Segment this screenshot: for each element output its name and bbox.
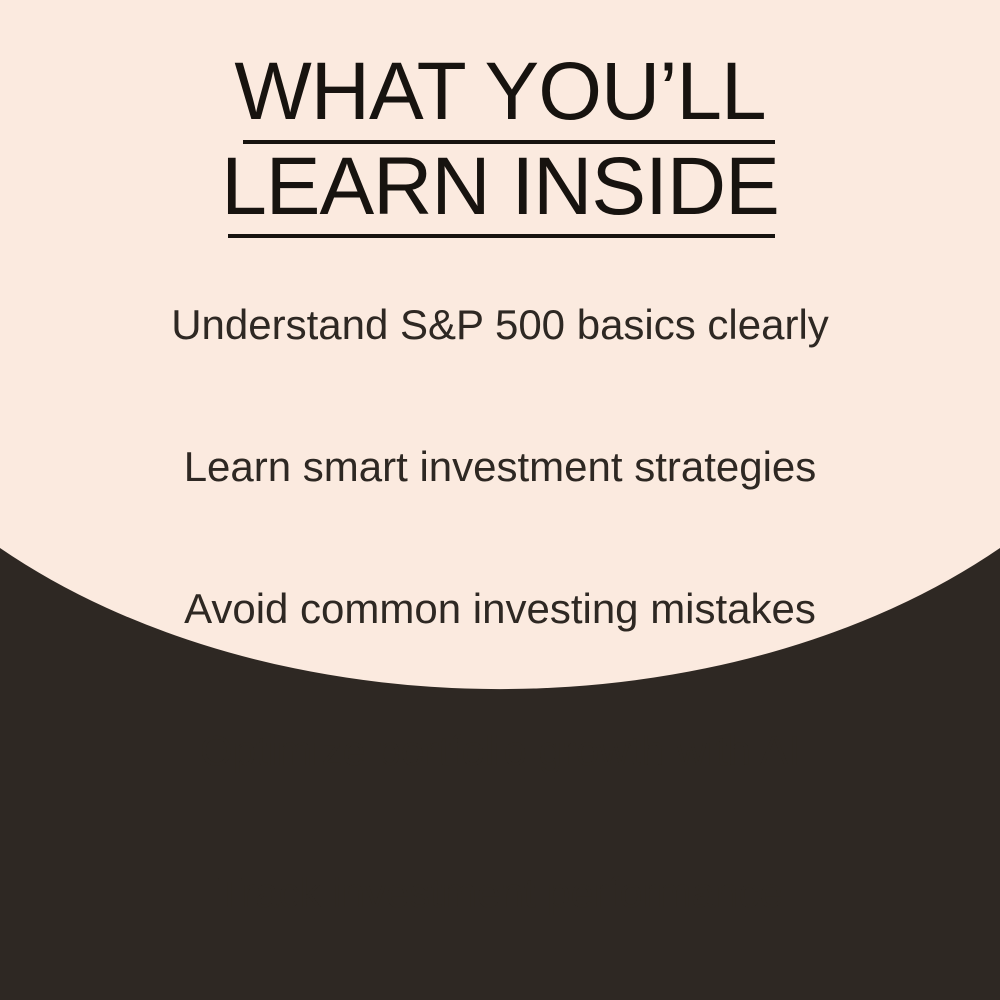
slide-content: WHAT YOU’LL LEARN INSIDE Understand S&P … bbox=[0, 0, 1000, 1000]
list-item: Learn smart investment strategies bbox=[0, 438, 1000, 580]
list-item: Avoid common investing mistakes bbox=[0, 580, 1000, 722]
slide-canvas: WHAT YOU’LL LEARN INSIDE Understand S&P … bbox=[0, 0, 1000, 1000]
list-item: Optimize portfolio growth with AI bbox=[0, 722, 1000, 864]
page-title: WHAT YOU’LL LEARN INSIDE bbox=[0, 52, 1000, 238]
list-item: Understand S&P 500 basics clearly bbox=[0, 296, 1000, 438]
page-title-line-1: WHAT YOU’LL bbox=[0, 52, 1000, 132]
page-title-line-2: LEARN INSIDE bbox=[0, 147, 1000, 227]
learn-points-list: Understand S&P 500 basics clearly Learn … bbox=[0, 296, 1000, 1000]
title-underline-2 bbox=[228, 234, 775, 238]
list-item: Track investment performance bbox=[0, 864, 1000, 1000]
